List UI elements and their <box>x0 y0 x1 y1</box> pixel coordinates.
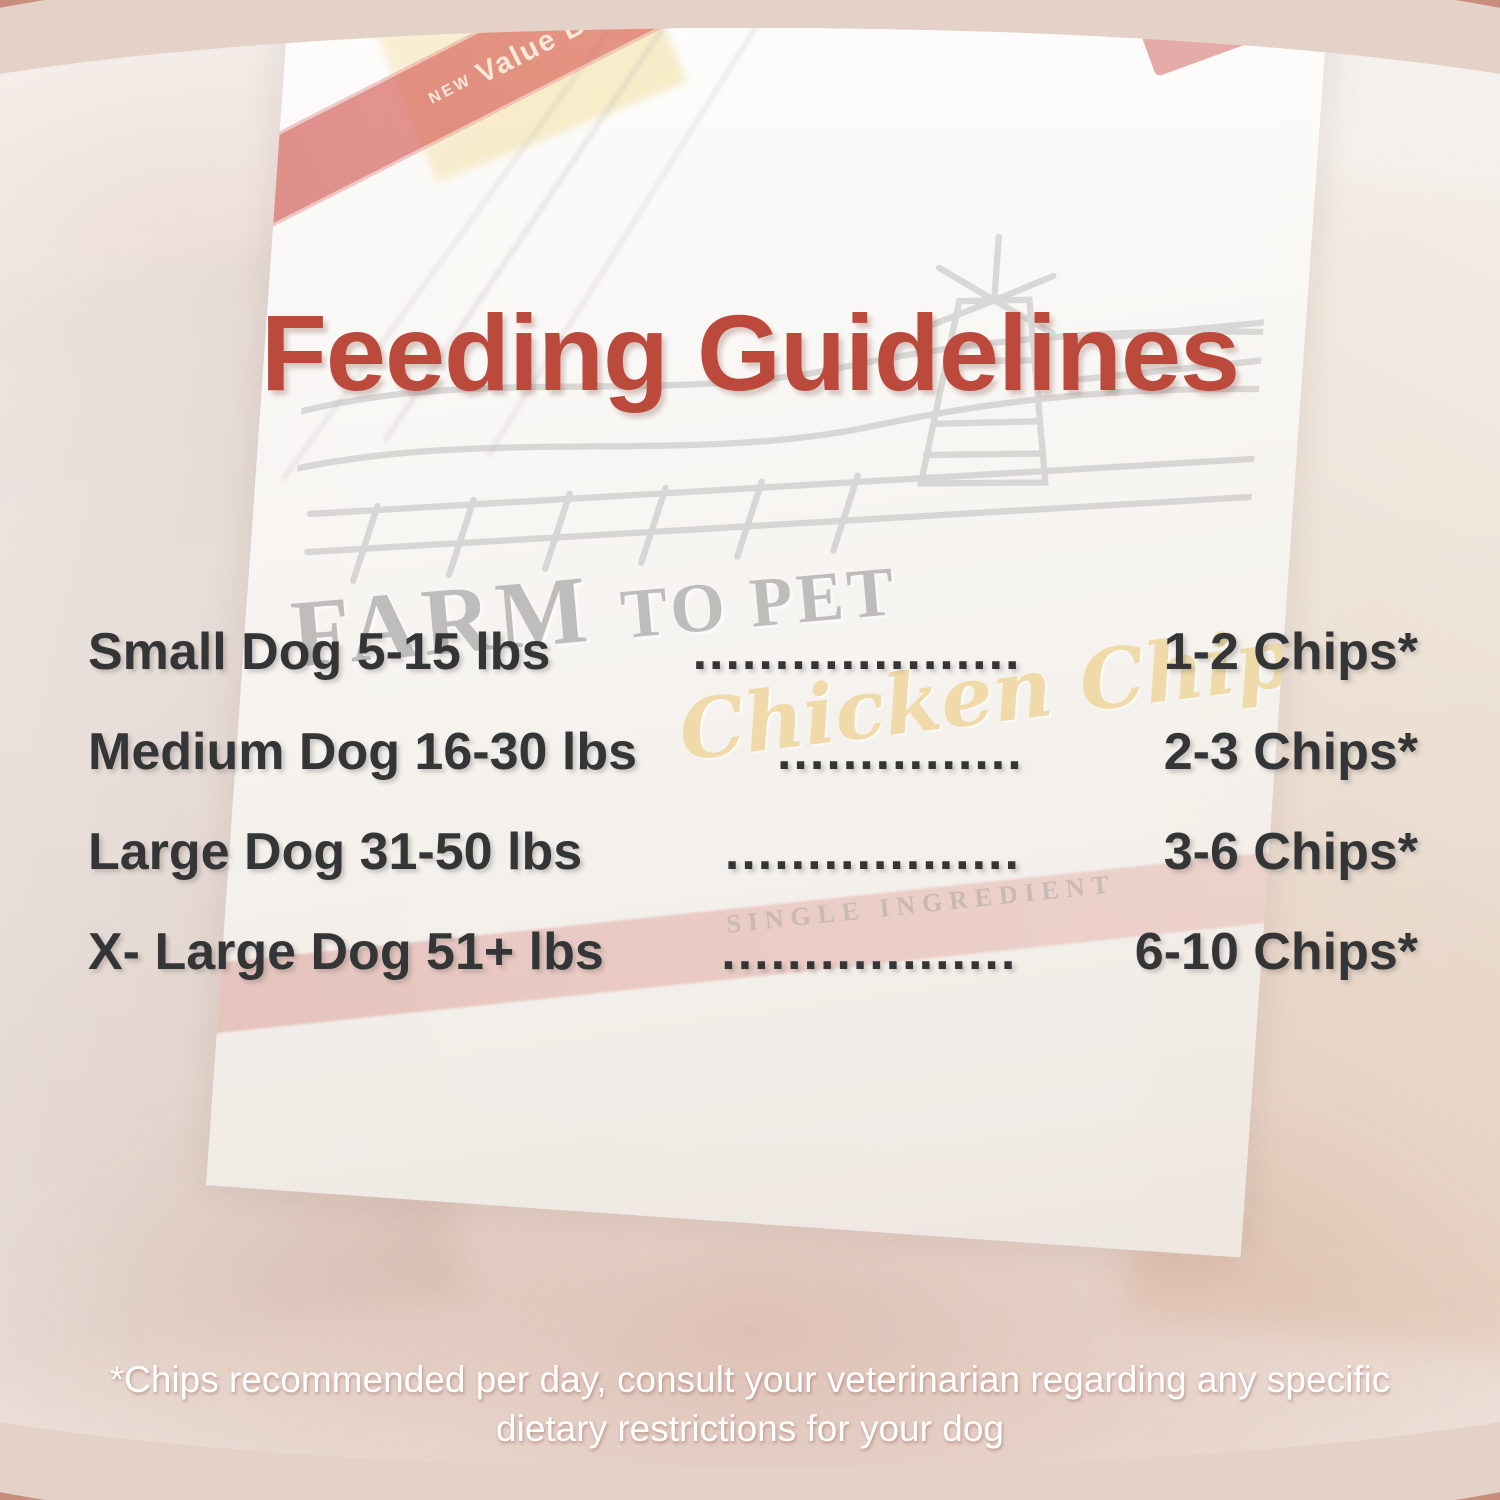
feeding-guidelines-card: NEW Value Bag <box>0 0 1500 1500</box>
row-leader-dots: .................. <box>596 822 1150 882</box>
table-row: Small Dog 5-15 lbs .................... … <box>88 622 1418 722</box>
row-label: Small Dog 5-15 lbs <box>88 622 550 682</box>
table-row: X- Large Dog 51+ lbs .................. … <box>88 922 1418 1022</box>
row-label: Large Dog 31-50 lbs <box>88 822 582 882</box>
footnote: *Chips recommended per day, consult your… <box>0 1356 1500 1454</box>
row-value: 3-6 Chips* <box>1164 822 1418 882</box>
row-label: X- Large Dog 51+ lbs <box>88 922 604 982</box>
footnote-line-2: dietary restrictions for your dog <box>0 1405 1500 1454</box>
page-title: Feeding Guidelines <box>0 290 1500 415</box>
row-value: 2-3 Chips* <box>1164 722 1418 782</box>
row-leader-dots: ............... <box>651 722 1150 782</box>
table-row: Medium Dog 16-30 lbs ............... 2-3… <box>88 722 1418 822</box>
row-value: 6-10 Chips* <box>1135 922 1418 982</box>
content-layer: Feeding Guidelines Small Dog 5-15 lbs ..… <box>0 0 1500 1500</box>
row-label: Medium Dog 16-30 lbs <box>88 722 637 782</box>
feeding-table: Small Dog 5-15 lbs .................... … <box>88 622 1418 1022</box>
table-row: Large Dog 31-50 lbs .................. 3… <box>88 822 1418 922</box>
row-leader-dots: .................. <box>618 922 1121 982</box>
footnote-line-1: *Chips recommended per day, consult your… <box>110 1359 1391 1400</box>
row-leader-dots: .................... <box>564 622 1149 682</box>
row-value: 1-2 Chips* <box>1164 622 1418 682</box>
